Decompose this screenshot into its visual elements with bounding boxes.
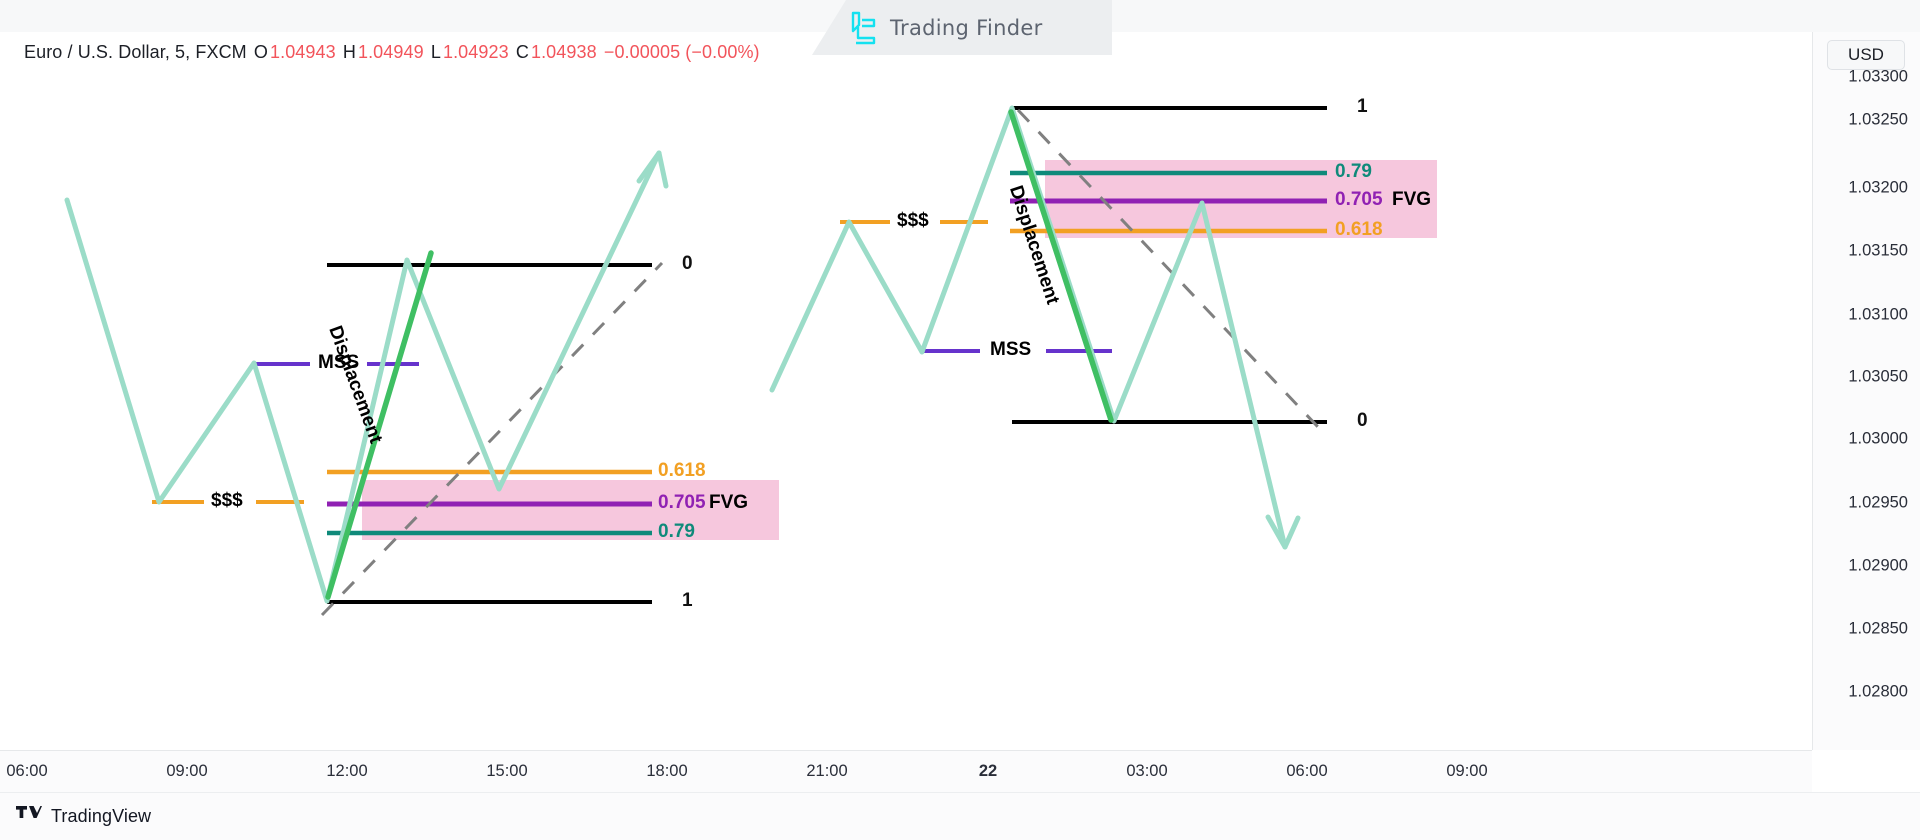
left-fvg-label: FVG [709, 492, 748, 514]
time-tick-day: 22 [979, 762, 997, 781]
left-fib-618-label: 0.618 [658, 460, 706, 482]
left-range-low-label: 1 [682, 590, 693, 612]
time-tick: 15:00 [486, 762, 527, 781]
bottom-bar [0, 792, 1920, 840]
time-tick: 21:00 [806, 762, 847, 781]
price-tick: 1.02900 [1848, 557, 1908, 576]
time-tick: 09:00 [166, 762, 207, 781]
time-axis[interactable]: 06:00 09:00 12:00 15:00 18:00 21:00 22 0… [0, 750, 1812, 792]
left-fib-705-label: 0.705 [658, 492, 706, 514]
price-tick: 1.03300 [1848, 68, 1908, 87]
price-tick: 1.02800 [1848, 683, 1908, 702]
price-tick: 1.02950 [1848, 494, 1908, 513]
time-tick: 12:00 [326, 762, 367, 781]
right-fvg-label: FVG [1392, 189, 1431, 211]
time-tick: 06:00 [6, 762, 47, 781]
chart-plot-area[interactable]: 0 1 MSS $$$ Displacement 0.618 0.705 0.7… [22, 55, 1812, 750]
price-tick: 1.02850 [1848, 620, 1908, 639]
right-liquidity-label: $$$ [897, 210, 929, 232]
tf-logo-icon [848, 11, 878, 45]
time-tick: 09:00 [1446, 762, 1487, 781]
right-fib-705-label: 0.705 [1335, 189, 1383, 211]
price-tick: 1.03200 [1848, 179, 1908, 198]
time-tick: 06:00 [1286, 762, 1327, 781]
left-fib-79-label: 0.79 [658, 521, 695, 543]
tradingview-name: TradingView [51, 806, 151, 827]
price-axis[interactable]: USD 1.03300 1.03250 1.03200 1.03150 1.03… [1812, 32, 1920, 750]
right-mss-label: MSS [990, 339, 1031, 361]
currency-unit-button[interactable]: USD [1827, 40, 1905, 70]
time-tick: 18:00 [646, 762, 687, 781]
price-tick: 1.03050 [1848, 368, 1908, 387]
left-liquidity-label: $$$ [211, 490, 243, 512]
time-tick: 03:00 [1126, 762, 1167, 781]
brand-tab: Trading Finder [812, 0, 1112, 55]
price-tick: 1.03100 [1848, 306, 1908, 325]
brand-name: Trading Finder [890, 16, 1043, 40]
tradingview-logo-icon [16, 806, 42, 827]
price-tick: 1.03250 [1848, 111, 1908, 130]
right-range-high-label: 1 [1357, 96, 1368, 118]
left-range-high-label: 0 [682, 253, 693, 275]
tradingview-branding[interactable]: TradingView [16, 806, 151, 827]
right-displacement-leg [1011, 112, 1111, 420]
right-fib-618-label: 0.618 [1335, 219, 1383, 241]
right-fib-79-label: 0.79 [1335, 161, 1372, 183]
trading-chart-screenshot: Euro / U.S. Dollar, 5, FXCM O1.04943 H1.… [0, 0, 1920, 840]
price-tick: 1.03150 [1848, 242, 1908, 261]
right-range-low-label: 0 [1357, 410, 1368, 432]
price-tick: 1.03000 [1848, 430, 1908, 449]
